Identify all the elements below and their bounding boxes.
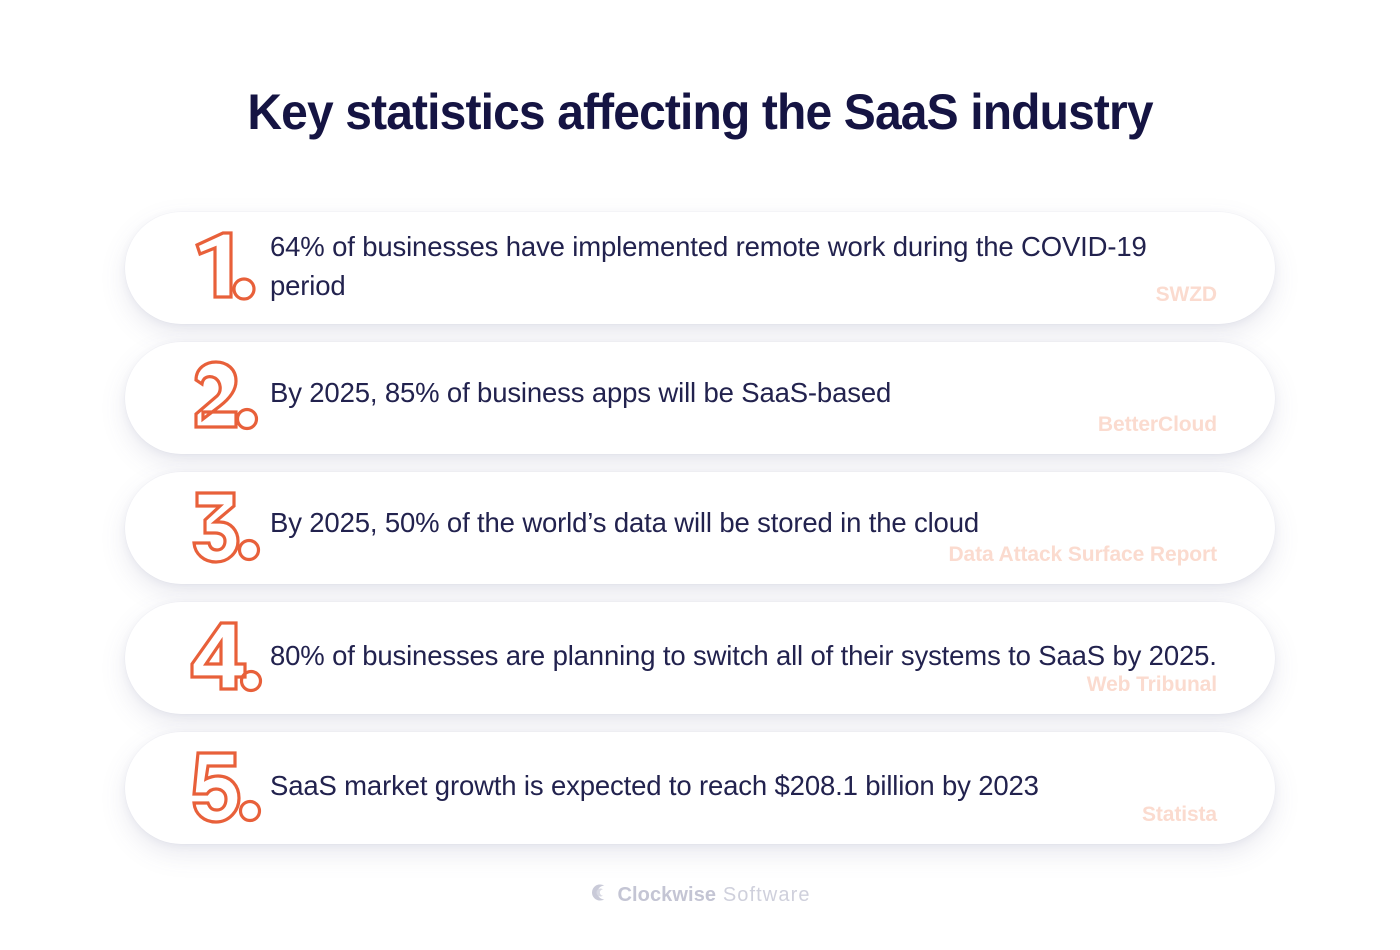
stat-card-2[interactable]: By 2025, 85% of business apps will be Sa… xyxy=(125,342,1275,454)
stat-text: By 2025, 50% of the world’s data will be… xyxy=(270,503,1217,542)
stat-source-label: SWZD xyxy=(1156,283,1217,307)
numeral-2-icon xyxy=(187,357,269,439)
stat-text: By 2025, 85% of business apps will be Sa… xyxy=(270,373,1217,412)
stat-card-3-body: By 2025, 50% of the world’s data will be… xyxy=(270,472,1217,584)
stat-source-label: BetterCloud xyxy=(1098,413,1217,437)
statistics-list: 64% of businesses have implemented remot… xyxy=(125,212,1275,844)
footer-brand-name: Clockwise xyxy=(617,884,716,906)
numeral-4-icon xyxy=(187,617,269,699)
page-title: Key statistics affecting the SaaS indust… xyxy=(28,84,1372,140)
stat-source-label: Web Tribunal xyxy=(1087,673,1217,697)
numeral-1-icon xyxy=(187,227,269,309)
stat-card-5[interactable]: SaaS market growth is expected to reach … xyxy=(125,732,1275,844)
infographic-page: Key statistics affecting the SaaS indust… xyxy=(0,0,1400,950)
footer-brand-suffix: Software xyxy=(716,884,810,906)
stat-card-4-body: 80% of businesses are planning to switch… xyxy=(270,602,1217,714)
stat-text: SaaS market growth is expected to reach … xyxy=(270,766,1217,805)
stat-card-5-body: SaaS market growth is expected to reach … xyxy=(270,732,1217,844)
stat-card-1-body: 64% of businesses have implemented remot… xyxy=(270,212,1217,324)
stat-card-1[interactable]: 64% of businesses have implemented remot… xyxy=(125,212,1275,324)
clockwise-swirl-icon xyxy=(589,882,610,908)
stat-card-4[interactable]: 80% of businesses are planning to switch… xyxy=(125,602,1275,714)
footer-brand: Clockwise Software xyxy=(617,884,810,907)
stat-card-3[interactable]: By 2025, 50% of the world’s data will be… xyxy=(125,472,1275,584)
stat-text: 80% of businesses are planning to switch… xyxy=(270,636,1217,675)
footer-logo[interactable]: Clockwise Software xyxy=(0,882,1400,908)
numeral-3-icon xyxy=(187,487,269,569)
stat-card-2-body: By 2025, 85% of business apps will be Sa… xyxy=(270,342,1217,454)
numeral-5-icon xyxy=(187,747,269,829)
stat-text: 64% of businesses have implemented remot… xyxy=(270,227,1217,305)
stat-source-label: Data Attack Surface Report xyxy=(948,543,1217,567)
stat-source-label: Statista xyxy=(1142,803,1217,827)
